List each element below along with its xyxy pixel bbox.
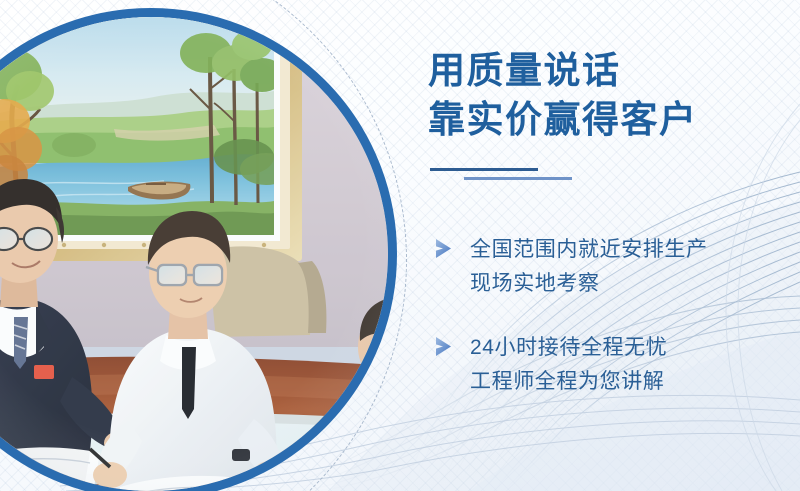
list-item: 24小时接待全程无忧 工程师全程为您讲解	[428, 331, 800, 399]
list-item-line-1: 24小时接待全程无忧	[470, 331, 800, 365]
list-item: 全国范围内就近安排生产 现场实地考察	[428, 233, 800, 301]
business-contract-signing-photo	[0, 8, 397, 491]
arrow-right-icon	[432, 335, 456, 359]
headline-line-2: 靠实价赢得客户	[428, 95, 698, 144]
arrow-right-icon	[432, 237, 456, 261]
list-item-text: 24小时接待全程无忧 工程师全程为您讲解	[470, 331, 800, 399]
divider-lower-line	[464, 177, 572, 180]
divider-upper-line	[430, 168, 538, 171]
promotional-banner: 用质量说话 靠实价赢得客户	[0, 0, 800, 491]
headline-line-1: 用质量说话	[428, 46, 698, 95]
photo-inner	[0, 17, 388, 491]
feature-list: 全国范围内就近安排生产 现场实地考察	[428, 233, 800, 399]
list-item-line-1: 全国范围内就近安排生产	[470, 233, 800, 267]
list-item-text: 全国范围内就近安排生产 现场实地考察	[470, 233, 800, 301]
page-title: 用质量说话 靠实价赢得客户	[428, 46, 698, 144]
list-item-line-2: 工程师全程为您讲解	[470, 365, 800, 399]
divider	[430, 168, 630, 184]
text-content-column: 用质量说话 靠实价赢得客户	[428, 0, 800, 491]
list-item-line-2: 现场实地考察	[470, 267, 800, 301]
